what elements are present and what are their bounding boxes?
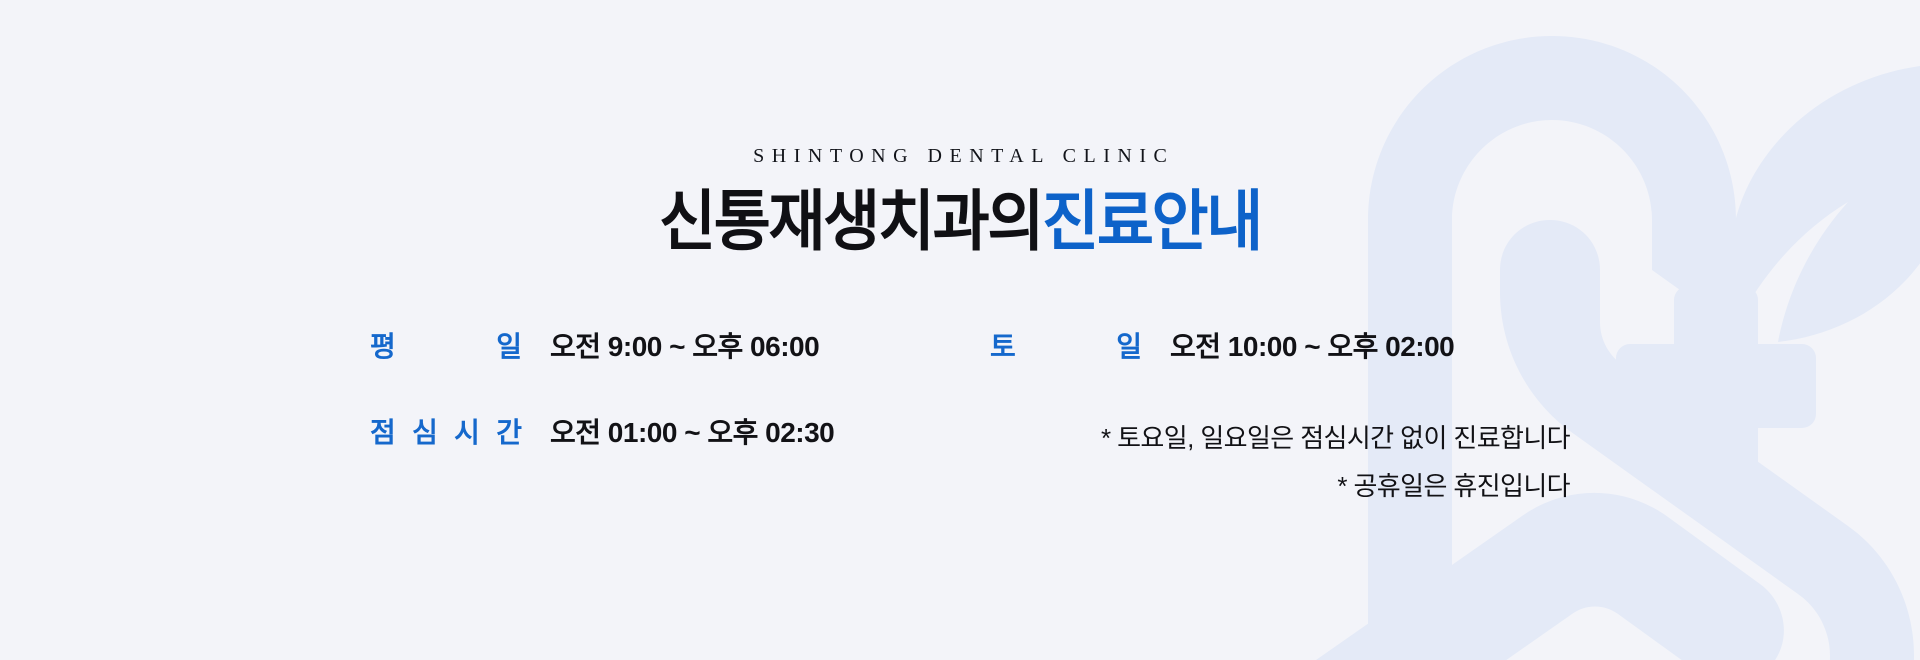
lunch-label-char-2: 심 — [412, 414, 438, 452]
schedule-row-secondary: 점 심 시 간 오전 01:00 ~ 오후 02:30 * 토요일, 일요일은 … — [370, 414, 1570, 500]
page-title-dark-part: 신통재생치과의 — [659, 184, 1042, 258]
weekday-label-char-2: 일 — [496, 328, 522, 366]
notes-list: * 토요일, 일요일은 점심시간 없이 진료합니다 * 공휴일은 휴진입니다 — [990, 414, 1570, 510]
clinic-hours-banner: SHINTONG DENTAL CLINIC 신통재생치과의진료안내 평 일 오… — [0, 0, 1920, 660]
lunch-label: 점 심 시 간 — [370, 414, 522, 452]
clinic-name-eyebrow: SHINTONG DENTAL CLINIC — [0, 145, 1920, 168]
page-title-blue-part: 진료안내 — [1042, 184, 1261, 258]
page-title: 신통재생치과의진료안내 — [58, 188, 1863, 254]
note-item: * 토요일, 일요일은 점심시간 없이 진료합니다 — [990, 414, 1570, 462]
lunch-label-char-3: 시 — [454, 414, 480, 452]
saturday-hours: 오전 10:00 ~ 오후 02:00 — [1170, 328, 1454, 366]
weekday-label-char-1: 평 — [370, 328, 396, 366]
notes-cell: * 토요일, 일요일은 점심시간 없이 진료합니다 * 공휴일은 휴진입니다 — [990, 414, 1570, 510]
lunch-hours: 오전 01:00 ~ 오후 02:30 — [550, 414, 834, 452]
note-item: * 공휴일은 휴진입니다 — [990, 462, 1570, 510]
lunch-label-char-1: 점 — [370, 414, 396, 452]
saturday-label: 토 일 — [990, 328, 1142, 366]
weekday-hours: 오전 9:00 ~ 오후 06:00 — [550, 328, 819, 366]
schedule-cell-saturday: 토 일 오전 10:00 ~ 오후 02:00 — [990, 328, 1570, 366]
saturday-label-char-2: 일 — [1116, 328, 1142, 366]
weekday-label: 평 일 — [370, 328, 522, 366]
lunch-label-char-4: 간 — [496, 414, 522, 452]
schedule-cell-lunch: 점 심 시 간 오전 01:00 ~ 오후 02:30 — [370, 414, 990, 452]
schedule-row-primary: 평 일 오전 9:00 ~ 오후 06:00 토 일 오전 10:00 ~ 오후… — [370, 328, 1570, 414]
schedule-table: 평 일 오전 9:00 ~ 오후 06:00 토 일 오전 10:00 ~ 오후… — [370, 328, 1570, 500]
saturday-label-char-1: 토 — [990, 328, 1016, 366]
schedule-cell-weekday: 평 일 오전 9:00 ~ 오후 06:00 — [370, 328, 990, 366]
